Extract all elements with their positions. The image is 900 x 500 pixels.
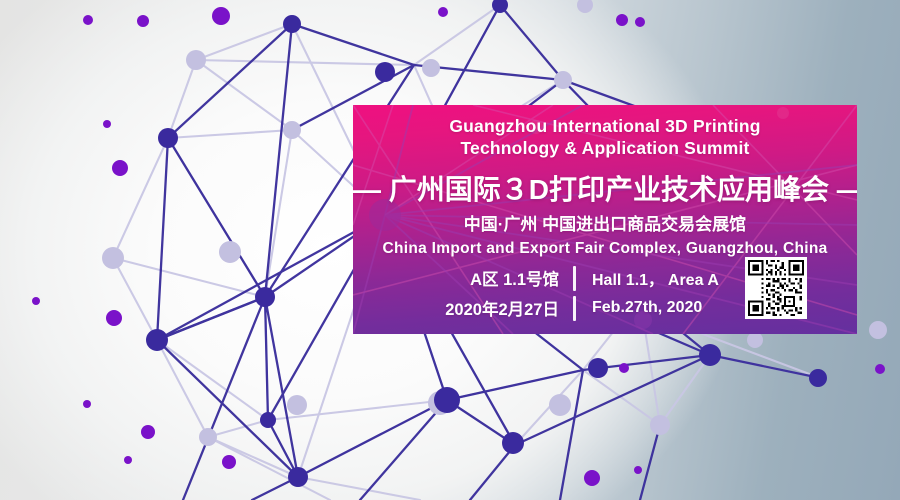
divider-bar xyxy=(573,266,576,291)
event-banner-panel: Guangzhou International 3D Printing Tech… xyxy=(353,105,857,334)
date-cn: 2020年2月27日 xyxy=(401,296,573,320)
english-title-line2: Technology & Application Summit xyxy=(353,137,857,159)
hall-cn: A区 1.1号馆 xyxy=(401,266,573,290)
event-details: A区 1.1号馆 Hall 1.1， Area A 2020年2月27日 Feb… xyxy=(401,263,741,323)
qr-code[interactable] xyxy=(745,257,807,319)
poster-canvas: Guangzhou International 3D Printing Tech… xyxy=(0,0,900,500)
chinese-title: — 广州国际３D打印产业技术应用峰会 — xyxy=(353,173,857,207)
chinese-venue: 中国·广州 中国进出口商品交易会展馆 xyxy=(353,213,857,237)
detail-row-hall: A区 1.1号馆 Hall 1.1， Area A xyxy=(401,263,741,293)
detail-row-date: 2020年2月27日 Feb.27th, 2020 xyxy=(401,293,741,323)
hall-en: Hall 1.1， Area A xyxy=(576,266,719,290)
qr-code-icon xyxy=(748,260,804,316)
date-en: Feb.27th, 2020 xyxy=(576,299,702,317)
english-title: Guangzhou International 3D Printing Tech… xyxy=(353,115,857,159)
divider-bar xyxy=(573,296,576,321)
english-title-line1: Guangzhou International 3D Printing xyxy=(353,115,857,137)
